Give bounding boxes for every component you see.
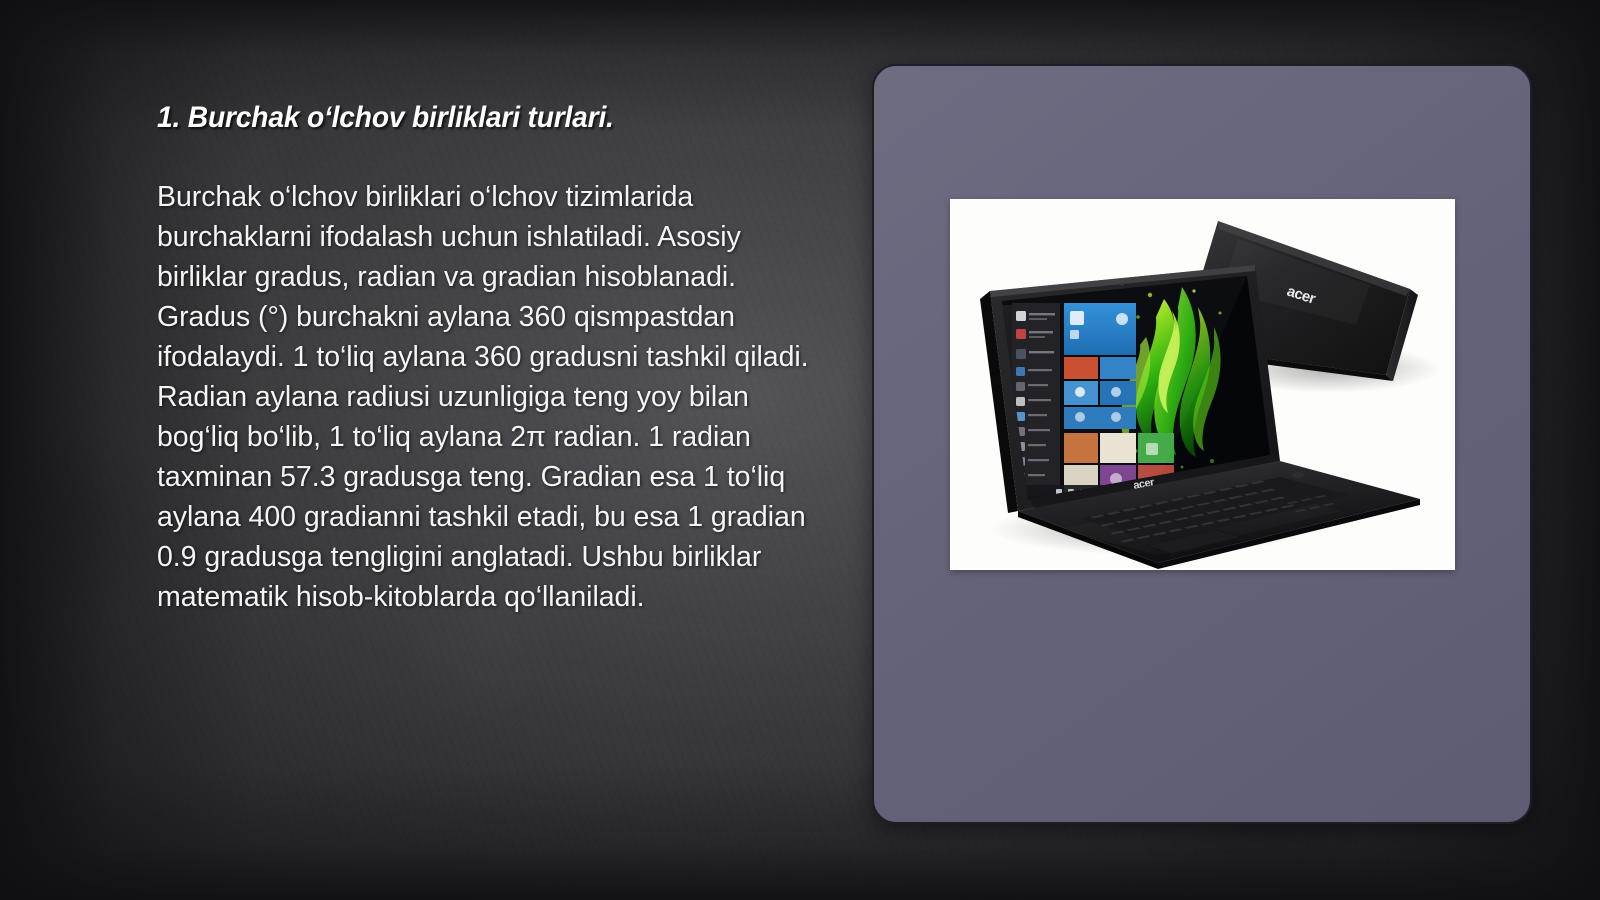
product-photo: acer: [950, 199, 1455, 570]
presentation-slide: 1. Burchak o‘lchov birliklari turlari. B…: [0, 0, 1600, 900]
text-column: 1. Burchak o‘lchov birliklari turlari. B…: [157, 100, 829, 617]
slide-title: 1. Burchak o‘lchov birliklari turlari.: [157, 100, 789, 135]
slide-body-text: Burchak o‘lchov birliklari o‘lchov tizim…: [157, 177, 829, 617]
image-panel: acer: [872, 64, 1532, 824]
acer-laptop-illustration: acer: [950, 199, 1455, 570]
